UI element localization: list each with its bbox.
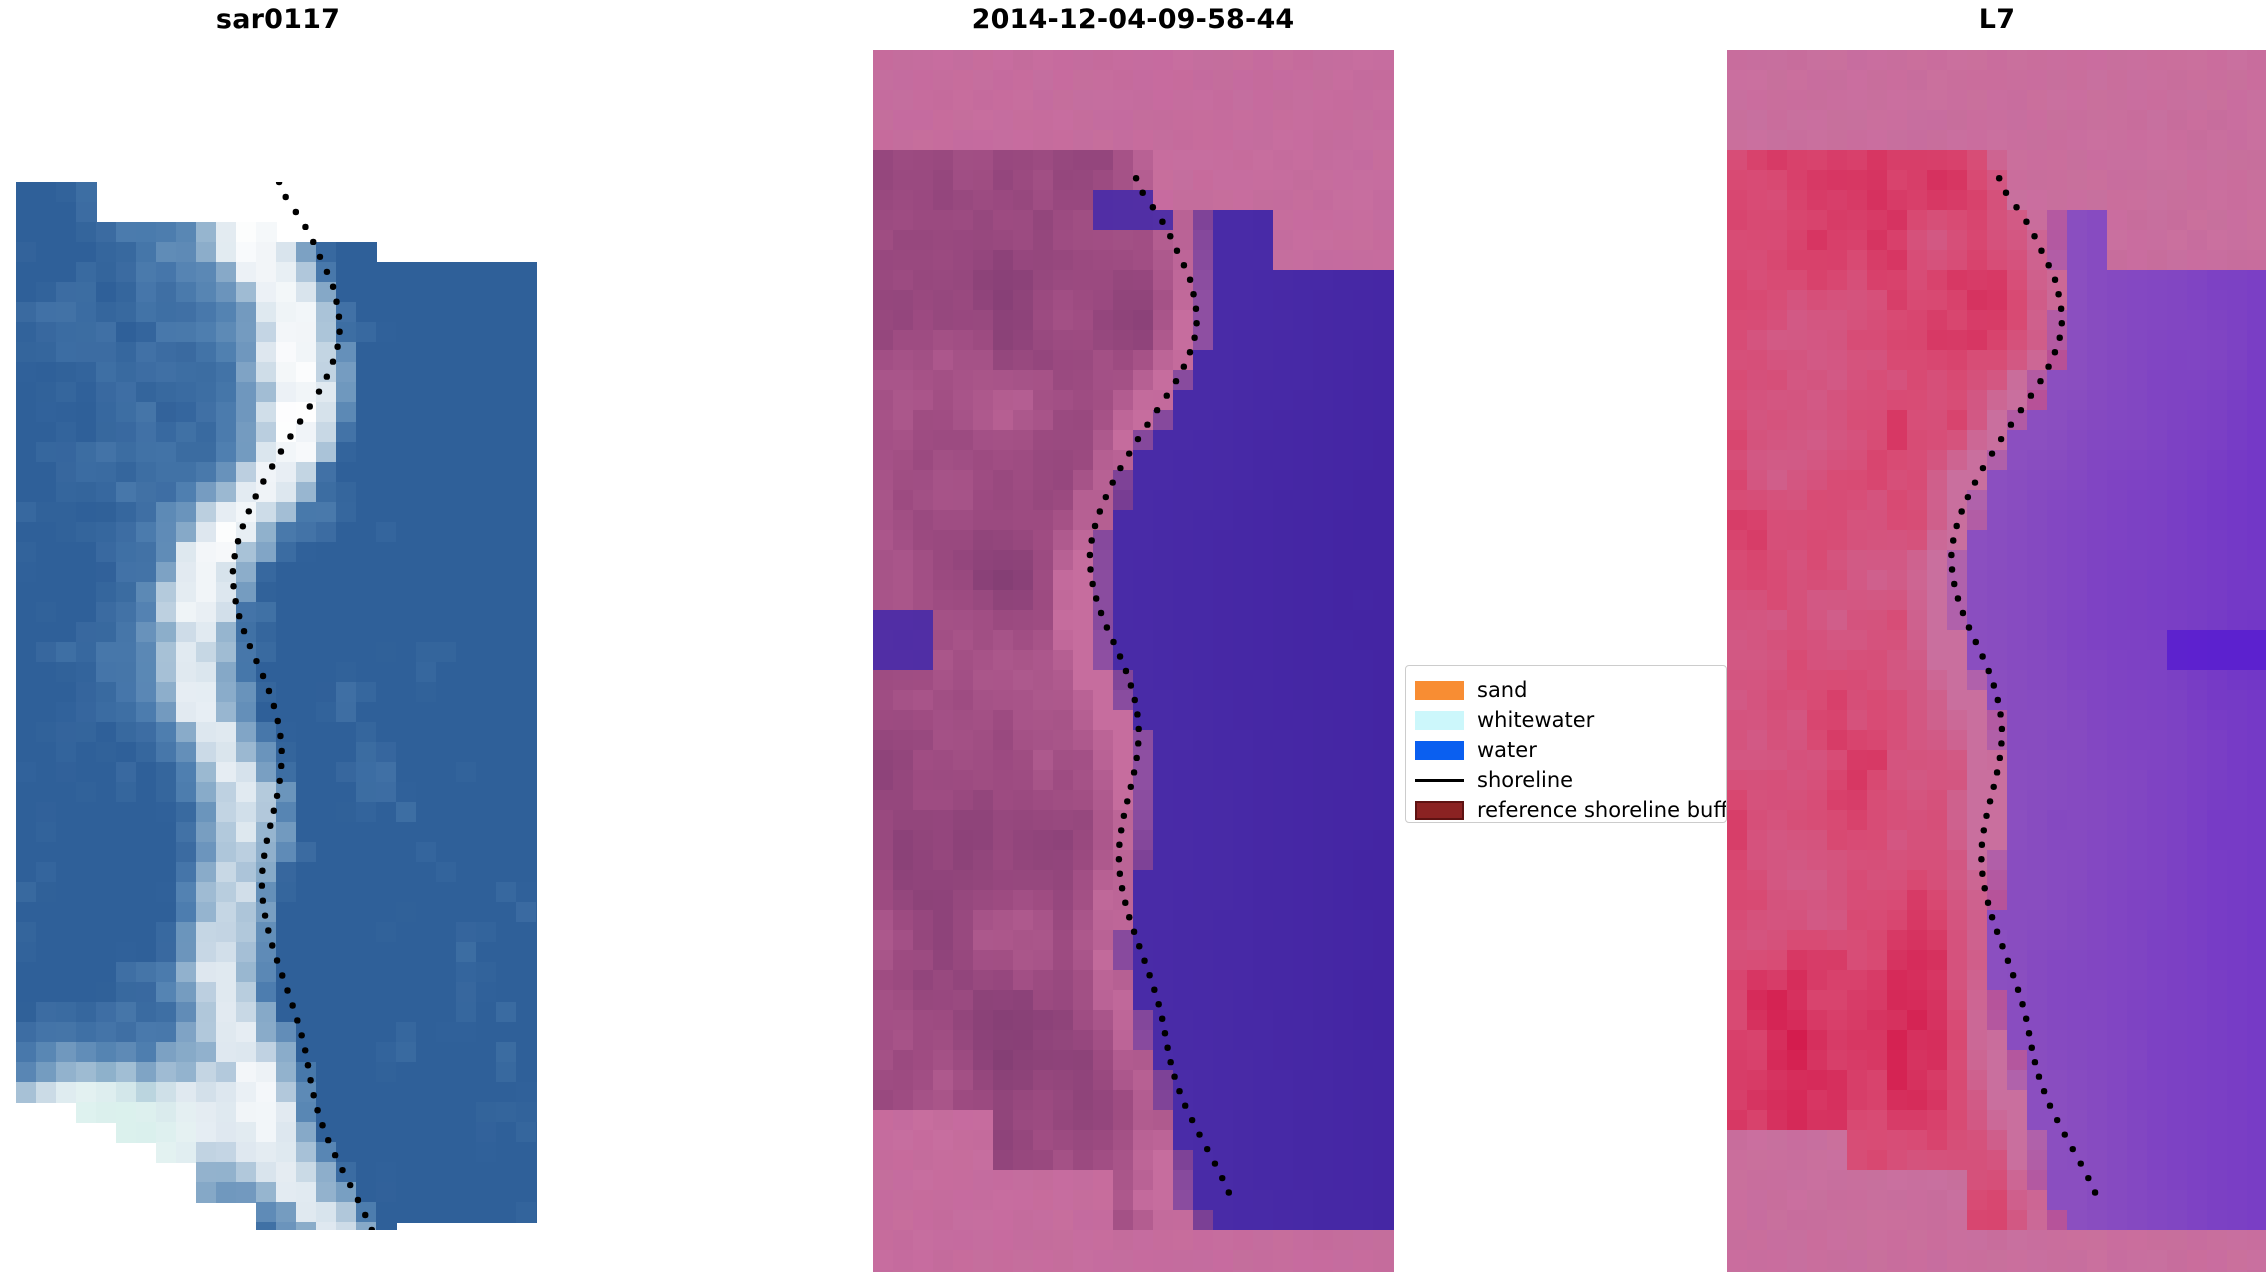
raster-optical <box>873 50 1394 1272</box>
legend-label-water: water <box>1477 738 1537 762</box>
legend-item-shoreline: shoreline <box>1415 765 1716 795</box>
legend-swatch-water <box>1415 741 1464 760</box>
raster-sar <box>16 182 537 1230</box>
panel-optical <box>873 50 1394 1272</box>
legend-label-shoreline: shoreline <box>1477 768 1573 792</box>
legend-item-water: water <box>1415 735 1716 765</box>
legend-swatch-sand <box>1415 681 1464 700</box>
legend-item-reference-shoreline-buffer: reference shoreline buffer <box>1415 795 1716 823</box>
legend-swatch-whitewater <box>1415 711 1464 730</box>
legend: sand whitewater water shoreline referenc… <box>1405 665 1727 823</box>
legend-label-sand: sand <box>1477 678 1527 702</box>
panel-title-l7: L7 <box>1697 4 2266 35</box>
raster-l7 <box>1727 50 2266 1272</box>
legend-swatch-shoreline <box>1415 779 1464 782</box>
legend-item-sand: sand <box>1415 675 1716 705</box>
legend-label-reference-shoreline-buffer: reference shoreline buffer <box>1477 798 1727 822</box>
panel-l7 <box>1727 50 2266 1272</box>
panel-title-sar: sar0117 <box>0 4 578 35</box>
legend-label-whitewater: whitewater <box>1477 708 1594 732</box>
panel-sar <box>16 182 537 1230</box>
legend-swatch-reference-shoreline-buffer <box>1415 801 1464 820</box>
figure-canvas: sar0117 2014-12-04-09-58-44 L7 sand whit… <box>0 0 2266 1283</box>
legend-item-whitewater: whitewater <box>1415 705 1716 735</box>
panel-title-optical: 2014-12-04-09-58-44 <box>833 4 1433 35</box>
